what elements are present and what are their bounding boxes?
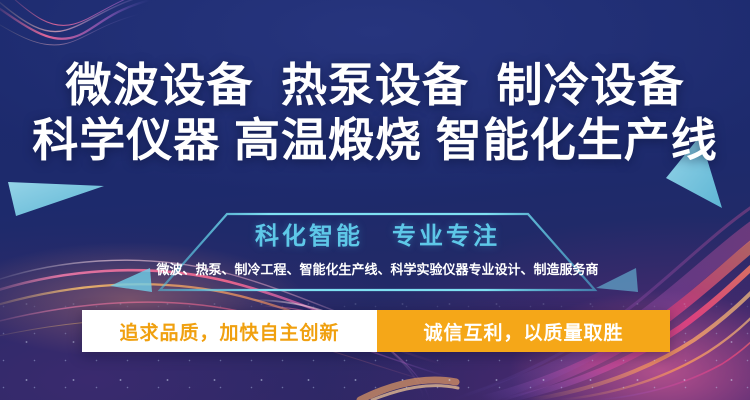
tagline-pill-left[interactable]: 追求品质，加快自主创新: [82, 310, 377, 352]
headline-line-1: 微波设备 热泵设备 制冷设备: [0, 58, 750, 113]
tagline-pill-right[interactable]: 诚信互利，以质量取胜: [377, 310, 670, 352]
headline-line-2: 科学仪器 高温煅烧 智能化生产线: [0, 113, 750, 168]
cyan-triangle-left: [8, 182, 104, 216]
promotional-banner: 微波设备 热泵设备 制冷设备 科学仪器 高温煅烧 智能化生产线 科化智能 专业专…: [0, 0, 750, 400]
top-left-swoosh: [0, 0, 162, 45]
slogan-subtitle: 微波、热泵、制冷工程、智能化生产线、科学实验仪器专业设计、制造服务商: [155, 261, 600, 279]
tagline-pill-bar: 追求品质，加快自主创新 诚信互利，以质量取胜: [82, 310, 670, 352]
slogan-text: 科化智能 专业专注: [155, 222, 600, 252]
slogan-trapezoid: 科化智能 专业专注 微波、热泵、制冷工程、智能化生产线、科学实验仪器专业设计、制…: [155, 208, 600, 296]
headline-block: 微波设备 热泵设备 制冷设备 科学仪器 高温煅烧 智能化生产线: [0, 58, 750, 168]
